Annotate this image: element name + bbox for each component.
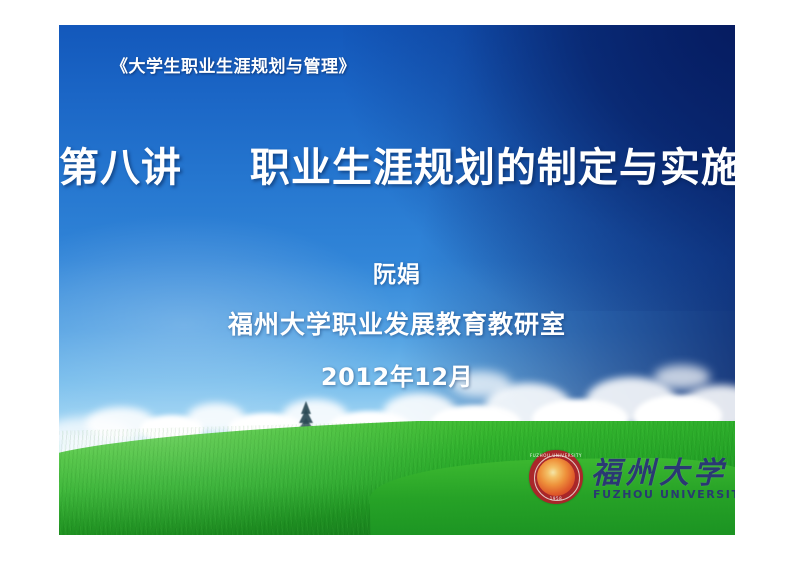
lecture-topic: 职业生涯规划的制定与实施	[250, 145, 735, 191]
university-name-calligraphy: 福州大学	[591, 448, 727, 492]
presentation-slide: 《大学生职业生涯规划与管理》 第八讲 职业生涯规划的制定与实施 阮娟 福州大学职…	[59, 25, 735, 535]
university-seal-icon: FUZHOU UNIVERSITY 1958	[529, 450, 583, 504]
document-page: 《大学生职业生涯规划与管理》 第八讲 职业生涯规划的制定与实施 阮娟 福州大学职…	[0, 0, 793, 561]
lecture-number: 第八讲	[59, 145, 182, 191]
department-name: 福州大学职业发展教育教研室	[59, 305, 735, 341]
presentation-date: 2012年12月	[59, 357, 735, 392]
university-name-english: FUZHOU UNIVERSITY	[593, 488, 735, 501]
seal-sun-disc	[537, 458, 575, 496]
university-logo: FUZHOU UNIVERSITY 1958 福州大学 FUZHOU UNIVE…	[529, 448, 719, 510]
presenter-name: 阮娟	[59, 255, 735, 289]
presenter-block: 阮娟 福州大学职业发展教育教研室 2012年12月	[59, 255, 735, 392]
seal-founding-year: 1958	[529, 496, 583, 501]
course-title: 《大学生职业生涯规划与管理》	[111, 52, 356, 77]
page-title: 第八讲 职业生涯规划的制定与实施	[59, 135, 735, 193]
